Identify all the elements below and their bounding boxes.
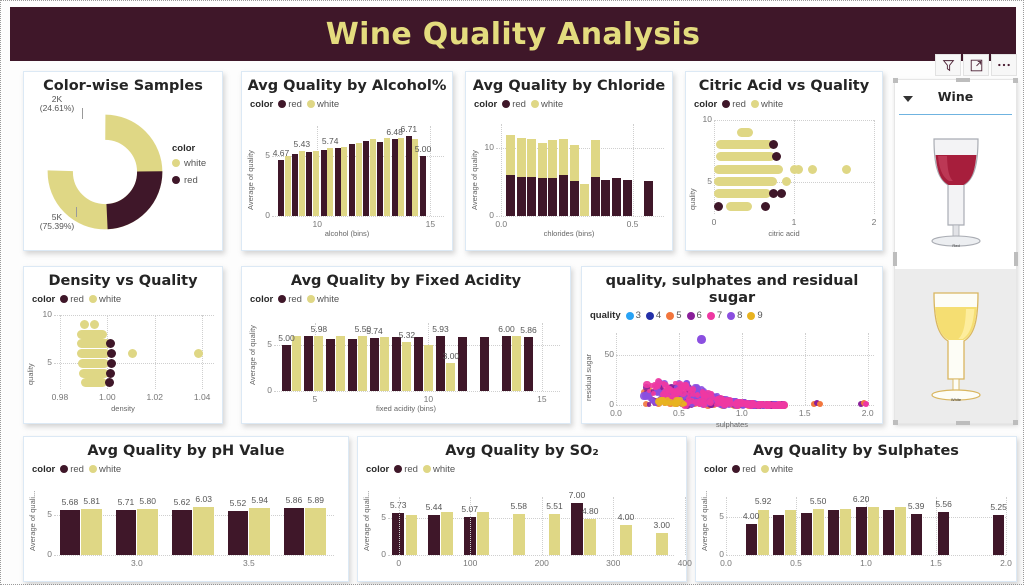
scatter-point[interactable]	[780, 401, 788, 409]
page-header-banner: Wine Quality Analysis	[10, 7, 1016, 61]
bar-red[interactable]	[292, 154, 298, 216]
bar-white[interactable]	[81, 509, 102, 555]
scatter-band-red[interactable]	[107, 359, 116, 368]
bar-red[interactable]	[548, 178, 557, 216]
bar-red[interactable]	[591, 177, 600, 216]
bar-red[interactable]	[506, 175, 515, 216]
bar-value-label: 6.20	[847, 494, 875, 504]
legend-item-white[interactable]: white	[531, 99, 563, 110]
legend-title: color	[32, 464, 55, 475]
bar-value-label: 5.32	[395, 330, 419, 340]
more-options-icon[interactable]	[991, 54, 1017, 76]
resize-handle-br[interactable]	[1013, 420, 1018, 425]
legend-swatch-red	[722, 100, 730, 108]
bar-red[interactable]	[335, 148, 341, 216]
slicer-item-white[interactable]: White	[895, 269, 1016, 423]
bar-white[interactable]	[580, 184, 589, 216]
report-page: Wine Quality Analysis Color-wise Samples	[0, 0, 1024, 585]
x-tick: 3.5	[233, 558, 265, 568]
legend-item-white[interactable]: white	[89, 464, 121, 475]
visual-color-wise-samples[interactable]: Color-wise Samples 2K (24.61%) 5K (75.39…	[23, 71, 223, 251]
bar-value-label: 3.00	[439, 351, 463, 361]
gridline-v	[60, 315, 61, 389]
donut-slice-red[interactable]	[60, 127, 149, 216]
scatter-point[interactable]	[817, 401, 823, 407]
legend-swatch-q9	[747, 312, 755, 320]
bar-white[interactable]	[358, 336, 367, 391]
bar-red[interactable]	[911, 514, 922, 555]
legend-item-red[interactable]: red	[278, 294, 302, 305]
legend-item-white[interactable]: white	[761, 464, 793, 475]
x-tick: 2.0	[848, 408, 888, 418]
resize-handle-top[interactable]	[956, 78, 970, 82]
donut-white-percent: (75.39%)	[40, 221, 75, 231]
bar-red[interactable]	[392, 337, 401, 390]
slicer-white-caption: White	[950, 397, 961, 402]
bar-red[interactable]	[538, 178, 547, 215]
visual-avg-quality-by-ph[interactable]: Avg Quality by pH Value color red white …	[23, 436, 349, 582]
scatter-outlier-point[interactable]	[697, 335, 706, 344]
legend-item-q8[interactable]: 8	[727, 310, 742, 321]
bar-white[interactable]	[402, 342, 411, 391]
bar-red[interactable]	[623, 180, 632, 216]
bar-white[interactable]	[285, 156, 291, 216]
legend-item-q5[interactable]: 5	[666, 310, 681, 321]
bar-red[interactable]	[559, 175, 568, 216]
scatter-point[interactable]	[667, 399, 674, 406]
bar-red[interactable]	[458, 337, 467, 391]
legend-label-red: red	[288, 294, 302, 305]
legend-label-red: red	[742, 464, 756, 475]
slicer-item-red[interactable]: Red	[895, 115, 1016, 269]
legend-title: color	[694, 99, 717, 110]
legend-item-red[interactable]: red	[502, 99, 526, 110]
bar-white[interactable]	[441, 512, 453, 555]
gridline-v	[399, 497, 400, 555]
scatter-band-white[interactable]	[714, 165, 783, 174]
donut-leader-white	[76, 207, 77, 217]
legend-label-q9: 9	[757, 310, 762, 321]
bar-red[interactable]	[172, 510, 193, 554]
scatter-point[interactable]	[679, 400, 686, 407]
scatter-band-white[interactable]	[77, 349, 110, 358]
chart-title: Density vs Quality	[24, 267, 222, 290]
axis-title-y: residual sugar	[584, 337, 593, 401]
scatter-band-white[interactable]	[726, 202, 752, 211]
legend-title: color	[474, 99, 497, 110]
legend-swatch-q7	[707, 312, 715, 320]
slicer-title: Wine	[895, 80, 1016, 104]
axis-title-x: density	[24, 404, 222, 413]
bar-white[interactable]	[384, 138, 390, 215]
legend-label-white: white	[99, 294, 121, 305]
bar-red[interactable]	[420, 156, 426, 215]
scatter-band-red[interactable]	[106, 339, 115, 348]
bar-red[interactable]	[801, 513, 812, 555]
bar-value-label: 5.94	[246, 495, 274, 505]
legend-title: color	[250, 294, 273, 305]
visual-avg-quality-by-fixed-acidity[interactable]: Avg Quality by Fixed Acidity color red w…	[241, 266, 571, 424]
bar-white[interactable]	[398, 138, 404, 216]
resize-handle-tr[interactable]	[1013, 78, 1018, 83]
bar-white[interactable]	[327, 148, 333, 216]
resize-handle-bl[interactable]	[893, 420, 898, 425]
bar-white[interactable]	[446, 363, 455, 391]
scatter-band-red[interactable]	[105, 378, 114, 387]
legend-label-white: white	[771, 464, 793, 475]
scatter-point[interactable]	[707, 399, 712, 404]
legend-item-red[interactable]: red	[722, 99, 746, 110]
donut-red-count: 2K	[52, 94, 62, 104]
scatter-band-red[interactable]	[106, 369, 115, 378]
legend-item-red[interactable]: red	[172, 175, 206, 186]
bar-red[interactable]	[370, 338, 379, 391]
bar-value-label: 5.51	[540, 501, 568, 511]
bar-red[interactable]	[601, 180, 610, 216]
plot-area: Average of qualityfixed acidity (bins)05…	[242, 305, 570, 415]
scatter-band-white[interactable]	[716, 140, 773, 149]
x-tick: 1.04	[182, 392, 222, 402]
scatter-point[interactable]	[682, 382, 688, 388]
bar-red[interactable]	[116, 510, 137, 555]
bar-white[interactable]	[512, 336, 521, 391]
axis-title-y: Average of quali...	[362, 501, 371, 551]
scatter-band-white[interactable]	[714, 189, 771, 198]
scatter-point[interactable]	[687, 391, 693, 397]
scatter-band-white[interactable]	[78, 359, 110, 368]
bar-white[interactable]	[895, 507, 906, 554]
y-tick: 5	[374, 512, 386, 522]
bar-red[interactable]	[377, 142, 383, 216]
scatter-point[interactable]	[735, 401, 741, 407]
bar-white[interactable]	[548, 140, 557, 178]
scatter-band-white[interactable]	[79, 369, 109, 378]
legend-swatch-q3	[626, 312, 634, 320]
legend-label-white: white	[317, 294, 339, 305]
bar-red[interactable]	[938, 512, 949, 554]
scatter-band-white[interactable]	[716, 152, 774, 161]
donut-leader-red	[82, 108, 83, 119]
y-tick: 5	[698, 176, 712, 186]
plot-area: Average of qualitychlorides (bins)0100.0…	[466, 110, 672, 240]
legend-swatch-q6	[687, 312, 695, 320]
bar-white[interactable]	[785, 510, 796, 555]
scatter-point[interactable]	[651, 391, 656, 396]
x-tick: 15	[414, 219, 446, 229]
bar-red[interactable]	[60, 510, 81, 555]
gridline-v	[616, 333, 617, 405]
scatter-band-red[interactable]	[107, 349, 116, 358]
legend: color red white	[696, 460, 1016, 475]
scatter-point[interactable]	[842, 165, 851, 174]
bar-red[interactable]	[392, 139, 398, 216]
legend-item-q4[interactable]: 4	[646, 310, 661, 321]
x-tick: 1.5	[918, 558, 954, 568]
bar-red[interactable]	[348, 339, 357, 390]
x-tick: 3.0	[121, 558, 153, 568]
bar-red[interactable]	[321, 150, 327, 215]
scatter-point[interactable]	[761, 202, 770, 211]
scatter-band-red[interactable]	[777, 189, 786, 198]
x-tick: 10	[412, 394, 444, 404]
bar-red[interactable]	[570, 181, 579, 216]
bar-white[interactable]	[840, 509, 851, 554]
bar-red[interactable]	[363, 141, 369, 215]
x-tick: 5	[299, 394, 331, 404]
scatter-point[interactable]	[701, 402, 707, 408]
scatter-point[interactable]	[782, 177, 791, 186]
bar-red[interactable]	[883, 510, 894, 555]
scatter-band-white[interactable]	[714, 177, 777, 186]
scatter-point[interactable]	[673, 397, 680, 404]
bar-red[interactable]	[278, 160, 284, 215]
bar-white[interactable]	[559, 139, 568, 175]
x-tick: 0.5	[778, 558, 814, 568]
visual-quality-sulphates-residual-sugar[interactable]: quality, sulphates and residual sugar qu…	[581, 266, 883, 424]
bar-red[interactable]	[524, 337, 533, 391]
bar-white[interactable]	[406, 515, 418, 554]
resize-handle-bottom[interactable]	[956, 421, 970, 425]
bar-value-label: 5.56	[930, 499, 958, 509]
gridline-h	[274, 391, 560, 392]
scatter-point[interactable]	[649, 383, 654, 388]
bar-red[interactable]	[282, 345, 291, 391]
resize-handle-tl[interactable]	[893, 78, 898, 83]
legend-item-white[interactable]: white	[423, 464, 455, 475]
x-tick: 0.0	[485, 219, 517, 229]
bar-red[interactable]	[306, 152, 312, 215]
bar-white[interactable]	[517, 138, 526, 177]
legend-title: color	[704, 464, 727, 475]
bar-value-label: 4.00	[737, 511, 765, 521]
bar-red[interactable]	[414, 337, 423, 391]
axis-title-x: chlorides (bins)	[466, 229, 672, 238]
gridline-v	[542, 497, 543, 555]
chart-title: Avg Quality by Chloride	[466, 72, 672, 95]
bar-white[interactable]	[341, 147, 347, 216]
legend-swatch-white	[172, 159, 180, 167]
legend-swatch-white	[89, 295, 97, 303]
gridline-v	[633, 124, 634, 216]
bar-white[interactable]	[549, 514, 561, 554]
legend-item-q9[interactable]: 9	[747, 310, 762, 321]
plot-area: Average of quali...055.685.815.715.805.6…	[24, 475, 348, 575]
x-tick: 0.5	[659, 408, 699, 418]
gridline-v	[805, 333, 806, 405]
gridline-v	[430, 126, 431, 216]
bar-white[interactable]	[813, 509, 824, 554]
legend-item-q3[interactable]: 3	[626, 310, 641, 321]
bar-white[interactable]	[527, 139, 536, 177]
legend-swatch-red	[502, 100, 510, 108]
bar-white[interactable]	[249, 508, 270, 555]
scatter-point[interactable]	[128, 349, 137, 358]
legend-swatch-white	[531, 100, 539, 108]
visual-citric-acid-vs-quality[interactable]: Citric Acid vs Quality color red white q…	[685, 71, 883, 251]
visual-avg-quality-by-alcohol[interactable]: Avg Quality by Alcohol% color red white …	[241, 71, 453, 251]
bar-white[interactable]	[314, 336, 323, 391]
bar-white[interactable]	[656, 533, 668, 555]
resize-handle-left[interactable]	[893, 252, 897, 266]
bar-red[interactable]	[304, 336, 313, 391]
bar-white[interactable]	[299, 151, 305, 215]
scatter-point[interactable]	[794, 165, 803, 174]
legend-item-white[interactable]: white	[751, 99, 783, 110]
visual-avg-quality-by-chloride[interactable]: Avg Quality by Chloride color red white …	[465, 71, 673, 251]
bar-red[interactable]	[349, 144, 355, 216]
resize-handle-right[interactable]	[1014, 252, 1018, 266]
legend-label-q5: 5	[676, 310, 681, 321]
bar-red[interactable]	[746, 524, 757, 555]
scatter-band-red[interactable]	[772, 152, 781, 161]
legend-label-red: red	[512, 99, 526, 110]
chevron-down-icon[interactable]	[903, 96, 913, 102]
scatter-band-red[interactable]	[769, 140, 778, 149]
legend-item-q7[interactable]: 7	[707, 310, 722, 321]
legend: quality 3456789	[582, 306, 882, 321]
bar-white[interactable]	[313, 151, 319, 216]
bar-red[interactable]	[773, 515, 784, 555]
gridline-v	[796, 497, 797, 555]
visual-avg-quality-by-sulphates[interactable]: Avg Quality by Sulphates color red white…	[695, 436, 1017, 582]
legend-swatch-white	[89, 465, 97, 473]
bar-red[interactable]	[527, 177, 536, 216]
bar-white[interactable]	[356, 143, 362, 216]
axis-title-y: quality	[688, 124, 697, 210]
bar-white[interactable]	[477, 512, 489, 555]
bar-value-label: 6.03	[190, 494, 218, 504]
x-tick: 200	[524, 558, 560, 568]
bar-white[interactable]	[513, 514, 525, 555]
bar-value-label: 4.80	[576, 506, 604, 516]
bar-value-label: 5.00	[275, 333, 299, 343]
bar-white[interactable]	[620, 525, 632, 554]
bar-red[interactable]	[436, 336, 445, 390]
scatter-point[interactable]	[90, 320, 99, 329]
donut-red-percent: (24.61%)	[40, 103, 75, 113]
legend-item-red[interactable]: red	[278, 99, 302, 110]
scatter-band-white[interactable]	[737, 128, 753, 137]
bar-white[interactable]	[506, 135, 515, 176]
bar-white[interactable]	[370, 139, 376, 215]
x-tick: 0	[381, 558, 417, 568]
gridline-v	[868, 333, 869, 405]
x-tick: 15	[526, 394, 558, 404]
bar-value-label: 5.50	[804, 496, 832, 506]
bar-red[interactable]	[856, 507, 867, 554]
axis-title-x: alcohol (bins)	[242, 229, 452, 238]
bar-red[interactable]	[326, 339, 335, 390]
scatter-band-red[interactable]	[714, 202, 723, 211]
bar-red[interactable]	[612, 178, 621, 216]
gridline-v	[501, 124, 502, 216]
legend-item-red[interactable]: red	[732, 464, 756, 475]
bar-white[interactable]	[305, 508, 326, 555]
y-tick: 0	[40, 549, 52, 559]
x-tick: 1.02	[135, 392, 175, 402]
bar-white[interactable]	[380, 337, 389, 390]
scatter-band-white[interactable]	[77, 330, 108, 339]
bar-white[interactable]	[570, 145, 579, 181]
legend-label-white: white	[761, 99, 783, 110]
bar-white[interactable]	[584, 519, 596, 554]
scatter-band-white[interactable]	[80, 320, 89, 329]
legend-item-white[interactable]: white	[307, 99, 339, 110]
bar-white[interactable]	[591, 140, 600, 176]
bar-value-label: 5.93	[429, 324, 453, 334]
bar-white[interactable]	[292, 336, 301, 391]
bar-white[interactable]	[193, 507, 214, 555]
legend-swatch-white	[307, 295, 315, 303]
bar-red[interactable]	[644, 181, 653, 215]
legend-item-white[interactable]: white	[307, 294, 339, 305]
legend-swatch-white	[423, 465, 431, 473]
scatter-point[interactable]	[720, 397, 725, 402]
bar-white[interactable]	[137, 509, 158, 555]
legend-item-q6[interactable]: 6	[687, 310, 702, 321]
bar-value-label: 5.98	[307, 324, 331, 334]
visual-density-vs-quality[interactable]: Density vs Quality color red white quali…	[23, 266, 223, 424]
bar-value-label: 5.44	[420, 502, 448, 512]
scatter-point[interactable]	[808, 165, 817, 174]
scatter-point[interactable]	[769, 189, 778, 198]
bar-red[interactable]	[284, 508, 305, 554]
scatter-band-white[interactable]	[81, 378, 107, 387]
bar-value-label: 5.81	[78, 496, 106, 506]
wine-slicer-panel[interactable]: Wine Red White	[894, 79, 1017, 424]
x-tick: 1	[774, 217, 814, 227]
bar-red[interactable]	[828, 510, 839, 555]
slicer-red-caption: Red	[952, 243, 959, 248]
axis-title-y: Average of quali...	[28, 499, 37, 551]
visual-avg-quality-by-so2[interactable]: Avg Quality by SO₂ color red white Avera…	[357, 436, 687, 582]
x-tick: 0.0	[708, 558, 744, 568]
filter-icon[interactable]	[935, 54, 961, 76]
legend-item-white[interactable]: white	[89, 294, 121, 305]
bar-value-label: 6.71	[397, 124, 421, 134]
x-tick: 2.0	[988, 558, 1024, 568]
legend-swatch-red	[60, 295, 68, 303]
legend: color red white	[242, 95, 452, 110]
legend-item-white[interactable]: white	[172, 158, 206, 169]
bar-red[interactable]	[228, 511, 249, 555]
bar-value-label: 5.00	[411, 144, 435, 154]
bar-white[interactable]	[868, 507, 879, 555]
legend-item-red[interactable]: red	[60, 294, 84, 305]
legend-item-red[interactable]: red	[394, 464, 418, 475]
bar-value-label: 3.00	[648, 520, 676, 530]
bar-white[interactable]	[538, 143, 547, 179]
bar-red[interactable]	[502, 336, 511, 391]
bar-red[interactable]	[428, 515, 440, 555]
focus-mode-icon[interactable]	[963, 54, 989, 76]
bar-red[interactable]	[993, 515, 1004, 555]
scatter-point[interactable]	[725, 397, 730, 402]
bar-red[interactable]	[517, 177, 526, 216]
x-tick: 300	[595, 558, 631, 568]
slicer-header: Wine	[895, 80, 1016, 114]
legend-swatch-white	[761, 465, 769, 473]
bar-red[interactable]	[480, 337, 489, 391]
legend-item-red[interactable]: red	[60, 464, 84, 475]
scatter-point[interactable]	[658, 397, 666, 405]
bar-white[interactable]	[424, 345, 433, 391]
axis-title-x: sulphates	[582, 420, 882, 429]
chart-title: quality, sulphates and residual sugar	[582, 267, 882, 306]
legend-label-q7: 7	[717, 310, 722, 321]
bar-white[interactable]	[336, 336, 345, 390]
gridline-v	[542, 323, 543, 391]
